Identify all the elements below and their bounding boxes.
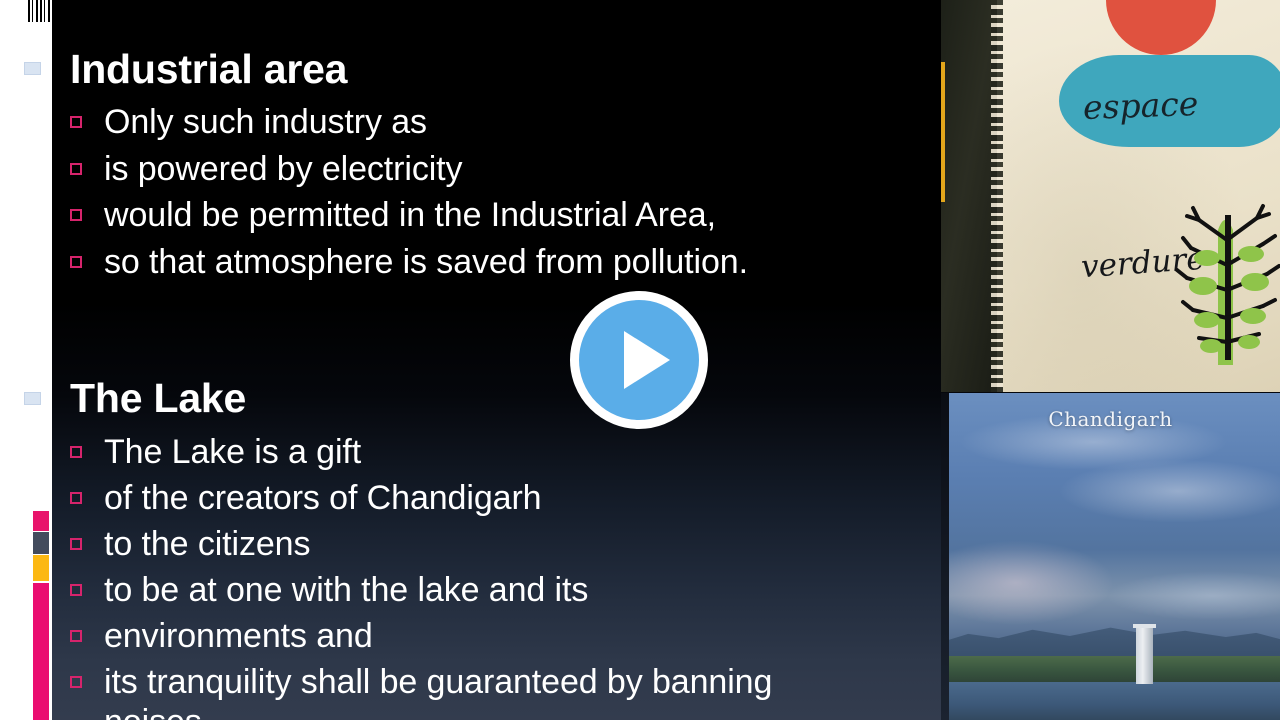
square-bullet-icon [70, 630, 82, 642]
photo-tower [1136, 625, 1153, 684]
poster-word-espace: espace [1082, 84, 1199, 127]
slide-left-rail [0, 0, 52, 720]
bullet-item: to the citizens [70, 527, 310, 561]
color-swatch-slate [33, 532, 49, 554]
presentation-slide: Industrial area Only such industry as is… [0, 0, 1280, 720]
section-heading-industrial-area: Industrial area [70, 46, 347, 93]
barcode-stripes-icon [28, 0, 52, 22]
rail-section-marker-1 [24, 62, 41, 75]
bullet-item-clipped: noises [70, 705, 202, 720]
bullet-item: Only such industry as [70, 105, 427, 139]
bullet-text: to be at one with the lake and its [104, 573, 588, 607]
poster-image-espace-verdure: espace verdure [941, 0, 1280, 392]
bullet-item: is powered by electricity [70, 152, 462, 186]
bullet-text: noises [104, 705, 202, 720]
square-bullet-icon [70, 446, 82, 458]
square-bullet-icon [70, 256, 82, 268]
bullet-item: The Lake is a gift [70, 435, 361, 469]
color-swatch-pink [33, 511, 49, 531]
bullet-item: environments and [70, 619, 373, 653]
poster-yellow-stripe [941, 62, 945, 202]
bullet-text: so that atmosphere is saved from polluti… [104, 245, 748, 279]
square-bullet-icon [70, 116, 82, 128]
video-play-button[interactable] [570, 291, 708, 429]
photo-lake-water [941, 682, 1280, 720]
bullet-text: environments and [104, 619, 373, 653]
color-swatch-magenta-bar [33, 583, 49, 720]
bullet-text: Only such industry as [104, 105, 427, 139]
bullet-text: of the creators of Chandigarh [104, 481, 541, 515]
slide-content: Industrial area Only such industry as is… [52, 0, 940, 720]
bullet-text: would be permitted in the Industrial Are… [104, 198, 716, 232]
square-bullet-icon [70, 676, 82, 688]
square-bullet-icon [70, 492, 82, 504]
photo-caption: Chandigarh [941, 407, 1280, 431]
bullet-item: its tranquility shall be guaranteed by b… [70, 665, 772, 699]
poster-torn-dark-edge [941, 0, 997, 392]
poster-tree-illustration [1163, 170, 1280, 370]
bullet-item: so that atmosphere is saved from polluti… [70, 245, 748, 279]
bullet-text: is powered by electricity [104, 152, 462, 186]
section-heading-the-lake: The Lake [70, 375, 246, 422]
square-bullet-icon [70, 584, 82, 596]
color-swatch-amber [33, 555, 49, 581]
bullet-text: its tranquility shall be guaranteed by b… [104, 665, 772, 699]
photo-left-edge-shadow [941, 393, 949, 720]
chandigarh-lake-photo: Chandigarh [941, 393, 1280, 720]
bullet-item: to be at one with the lake and its [70, 573, 588, 607]
bullet-item: would be permitted in the Industrial Are… [70, 198, 716, 232]
square-bullet-icon [70, 209, 82, 221]
bullet-text: The Lake is a gift [104, 435, 361, 469]
square-bullet-icon [70, 163, 82, 175]
bullet-text: to the citizens [104, 527, 310, 561]
square-bullet-icon [70, 538, 82, 550]
bullet-item: of the creators of Chandigarh [70, 481, 541, 515]
play-icon [624, 331, 670, 389]
rail-section-marker-2 [24, 392, 41, 405]
